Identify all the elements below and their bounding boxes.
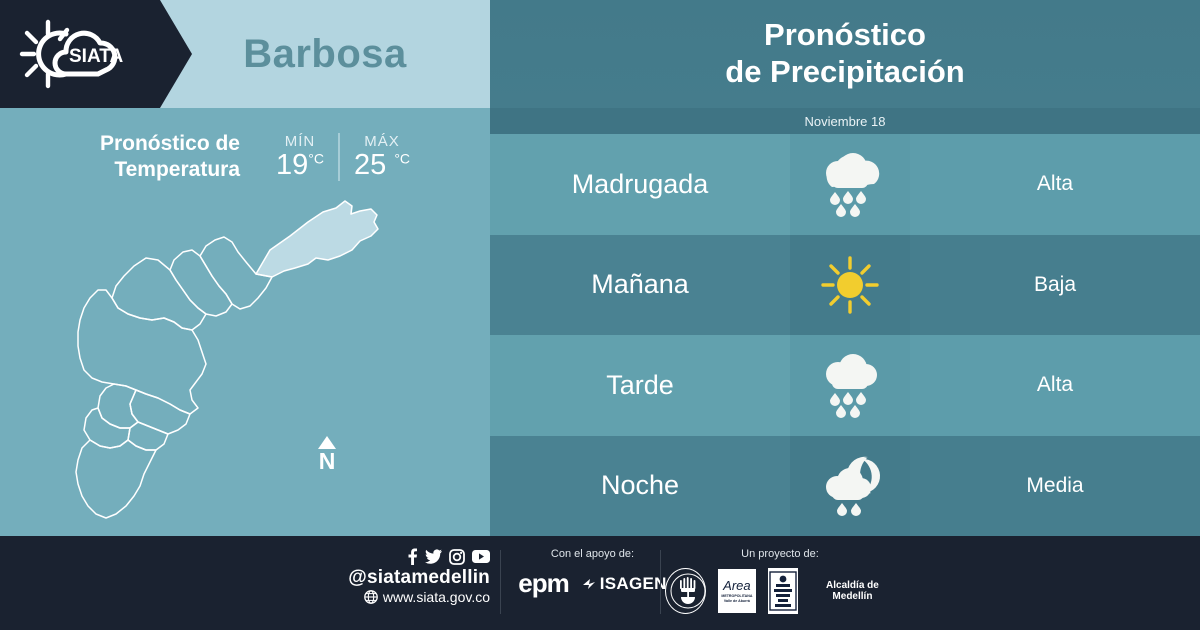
- temperature-title: Pronóstico de Temperatura: [60, 131, 240, 184]
- footer-divider: [500, 550, 501, 614]
- support-block: Con el apoyo de: epm ISAGEN: [505, 548, 680, 599]
- forecast-row: Tarde: [490, 335, 1200, 436]
- website-url: www.siata.gov.co: [383, 589, 490, 605]
- instagram-icon[interactable]: [449, 549, 465, 565]
- twitter-icon[interactable]: [425, 549, 442, 564]
- forecast-period: Madrugada: [490, 134, 790, 235]
- forecast-date-bar: Noviembre 18: [490, 108, 1200, 134]
- social-handle[interactable]: @siatamedellin: [330, 567, 490, 589]
- left-panel: SIATA Barbosa Pronóstico de Temperatura …: [0, 0, 490, 536]
- support-caption: Con el apoyo de:: [505, 548, 680, 560]
- left-header: SIATA Barbosa: [0, 0, 490, 108]
- temperature-max: MÁX 25 °C: [340, 133, 424, 182]
- support-logos: epm ISAGEN: [505, 568, 680, 599]
- forecast-row: Madrugada: [490, 134, 1200, 235]
- map-region-itagui: [98, 384, 138, 428]
- temperature-min-number: 19: [276, 149, 308, 181]
- moon-rain-icon: [790, 436, 910, 537]
- sun-cloud-icon: SIATA: [14, 16, 134, 92]
- forecast-title: Pronóstico de Precipitación: [725, 17, 964, 90]
- youtube-icon[interactable]: [472, 550, 490, 563]
- isagen-mark-icon: [581, 576, 597, 592]
- project-logos: Area METROPOLITANA Valle de Aburrá: [665, 568, 895, 614]
- left-body: Pronóstico de Temperatura MÍN 19°C MÁX 2…: [0, 108, 490, 536]
- isagen-logo: ISAGEN: [581, 574, 667, 594]
- siata-logo-badge: SIATA: [0, 0, 160, 108]
- forecast-probability: Baja: [910, 235, 1200, 336]
- area-sub1: METROPOLITANA: [721, 594, 752, 598]
- aburra-valley-map: N: [40, 178, 460, 528]
- alcaldia-label: Alcaldía de Medellín: [810, 580, 895, 602]
- rain-cloud-icon-svg: [812, 352, 888, 418]
- rain-cloud-icon: [790, 335, 910, 436]
- forecast-period: Tarde: [490, 335, 790, 436]
- map-region-medellin: [78, 290, 206, 414]
- sun-icon-svg: [814, 252, 886, 318]
- globe-icon: [364, 590, 378, 604]
- project-caption: Un proyecto de:: [665, 548, 895, 560]
- city-name: Barbosa: [160, 0, 490, 108]
- footer-divider: [660, 550, 661, 614]
- forecast-panel: Pronóstico de Precipitación Noviembre 18…: [490, 0, 1200, 536]
- rain-cloud-icon-svg: [812, 151, 888, 217]
- alcaldia-emblem-icon: [769, 571, 797, 611]
- area-logo-sub: METROPOLITANA Valle de Aburrá: [721, 594, 752, 603]
- forecast-probability: Media: [910, 436, 1200, 537]
- epm-logo: epm: [518, 568, 568, 599]
- isagen-text: ISAGEN: [600, 574, 667, 594]
- temperature-min-unit: °C: [308, 150, 324, 166]
- forecast-probability: Alta: [910, 335, 1200, 436]
- forecast-period: Noche: [490, 436, 790, 537]
- map-region-envigado: [130, 390, 190, 434]
- forecast-rows: Madrugada: [490, 134, 1200, 536]
- temperature-max-unit: °C: [394, 150, 410, 166]
- forecast-probability: Alta: [910, 134, 1200, 235]
- udea-seal-logo: [665, 568, 706, 614]
- compass-north-label: N: [318, 450, 336, 473]
- siata-logo-text: SIATA: [69, 46, 123, 67]
- social-block: @siatamedellin www.siata.gov.co: [330, 548, 490, 605]
- area-logo-word: Area: [723, 579, 750, 592]
- forecast-title-line2: de Precipitación: [725, 54, 964, 89]
- forecast-header: Pronóstico de Precipitación: [490, 0, 1200, 108]
- facebook-icon[interactable]: [407, 548, 418, 565]
- project-block: Un proyecto de:: [665, 548, 895, 614]
- rain-cloud-icon: [790, 134, 910, 235]
- map-region-la-estrella: [84, 408, 130, 448]
- social-icons: [330, 548, 490, 565]
- temperature-min: MÍN 19°C: [262, 133, 340, 182]
- map-region-barbosa: [256, 201, 378, 277]
- temperature-min-label: MÍN: [276, 133, 324, 150]
- temperature-title-line1: Pronóstico de: [100, 132, 240, 155]
- temperature-max-label: MÁX: [354, 133, 410, 150]
- temperature-max-number: 25: [354, 149, 386, 181]
- compass-rose: N: [318, 436, 336, 473]
- temperature-max-value: 25 °C: [354, 150, 410, 182]
- alcaldia-emblem-logo: [768, 568, 798, 614]
- website-line[interactable]: www.siata.gov.co: [330, 589, 490, 605]
- map-region-sabaneta: [128, 422, 168, 450]
- map-region-copacabana: [170, 250, 232, 316]
- map-region-caldas: [76, 440, 156, 518]
- moon-rain-icon-svg: [812, 453, 888, 519]
- area-sub2: Valle de Aburrá: [724, 599, 750, 603]
- temperature-min-value: 19°C: [276, 150, 324, 182]
- forecast-row: Mañana: [490, 235, 1200, 336]
- forecast-date: Noviembre 18: [805, 114, 886, 129]
- map-svg: [40, 178, 460, 528]
- forecast-period: Mañana: [490, 235, 790, 336]
- footer: @siatamedellin www.siata.gov.co Con el a…: [0, 536, 1200, 630]
- sun-icon: [790, 235, 910, 336]
- temperature-values: MÍN 19°C MÁX 25 °C: [262, 133, 424, 182]
- forecast-row: Noche Media: [490, 436, 1200, 537]
- area-metropolitana-logo: Area METROPOLITANA Valle de Aburrá: [718, 569, 755, 613]
- weather-forecast-poster: SIATA Barbosa Pronóstico de Temperatura …: [0, 0, 1200, 630]
- udea-seal-icon: [667, 570, 709, 612]
- forecast-title-line1: Pronóstico: [764, 17, 926, 52]
